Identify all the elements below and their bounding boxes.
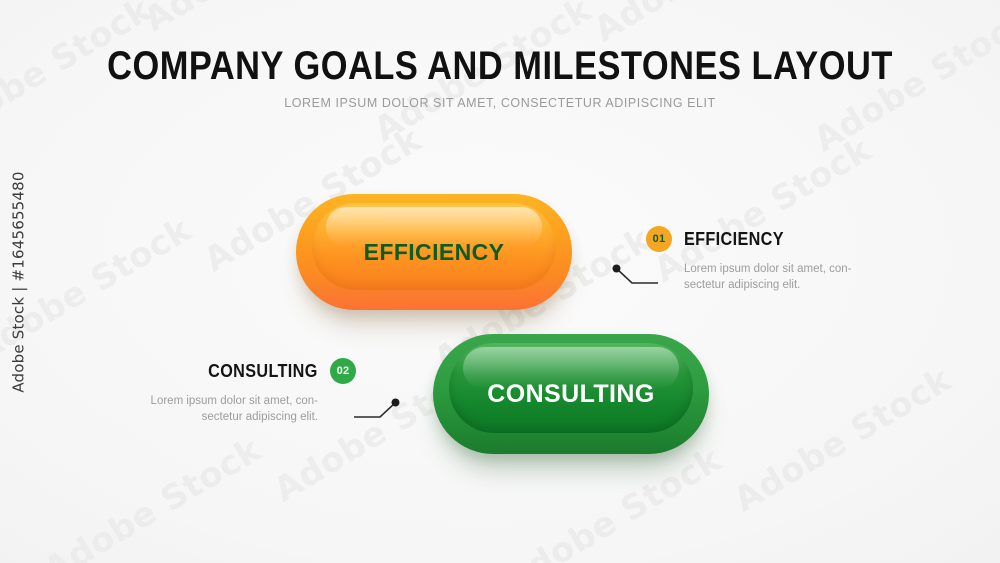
legend-description-01: Lorem ipsum dolor sit amet, con-sectetur…: [684, 261, 876, 293]
page-subtitle: LOREM IPSUM DOLOR SIT AMET, CONSECTETUR …: [0, 96, 1000, 110]
stock-credit-sidebar: Adobe Stock | #1645655480: [2, 0, 36, 563]
stock-credit-label: Adobe Stock | #1645655480: [10, 171, 28, 392]
capsule-efficiency-label: EFFICIENCY: [364, 239, 505, 266]
capsule-efficiency[interactable]: EFFICIENCY: [296, 194, 572, 310]
capsule-consulting-label: CONSULTING: [487, 380, 654, 409]
watermark-text: Adobe Stock: [497, 440, 728, 563]
legend-item-01-head: 01 EFFICIENCY: [646, 226, 876, 252]
legend-badge-02: 02: [330, 358, 356, 384]
legend-title-01: EFFICIENCY: [684, 229, 784, 250]
watermark-text: Adobe Stock: [587, 0, 818, 50]
legend-item-02-head: CONSULTING 02: [126, 358, 356, 384]
watermark-text: Adobe Stock: [37, 430, 268, 563]
legend-item-02: CONSULTING 02 Lorem ipsum dolor sit amet…: [126, 358, 356, 425]
legend-item-01: 01 EFFICIENCY Lorem ipsum dolor sit amet…: [646, 226, 876, 293]
watermark-text: Adobe Stock: [727, 360, 958, 521]
capsule-consulting[interactable]: CONSULTING: [433, 334, 709, 454]
legend-badge-01: 01: [646, 226, 672, 252]
connector-line-02: [352, 398, 400, 424]
legend-title-02: CONSULTING: [208, 361, 318, 382]
watermark-text: Adobe Stock: [137, 0, 368, 40]
legend-description-02: Lorem ipsum dolor sit amet, con-sectetur…: [126, 393, 318, 425]
heading-block: COMPANY GOALS AND MILESTONES LAYOUT LORE…: [0, 44, 1000, 110]
page-title: COMPANY GOALS AND MILESTONES LAYOUT: [70, 44, 930, 88]
infographic-canvas: Adobe Stock Adobe Stock Adobe Stock Adob…: [0, 0, 1000, 563]
